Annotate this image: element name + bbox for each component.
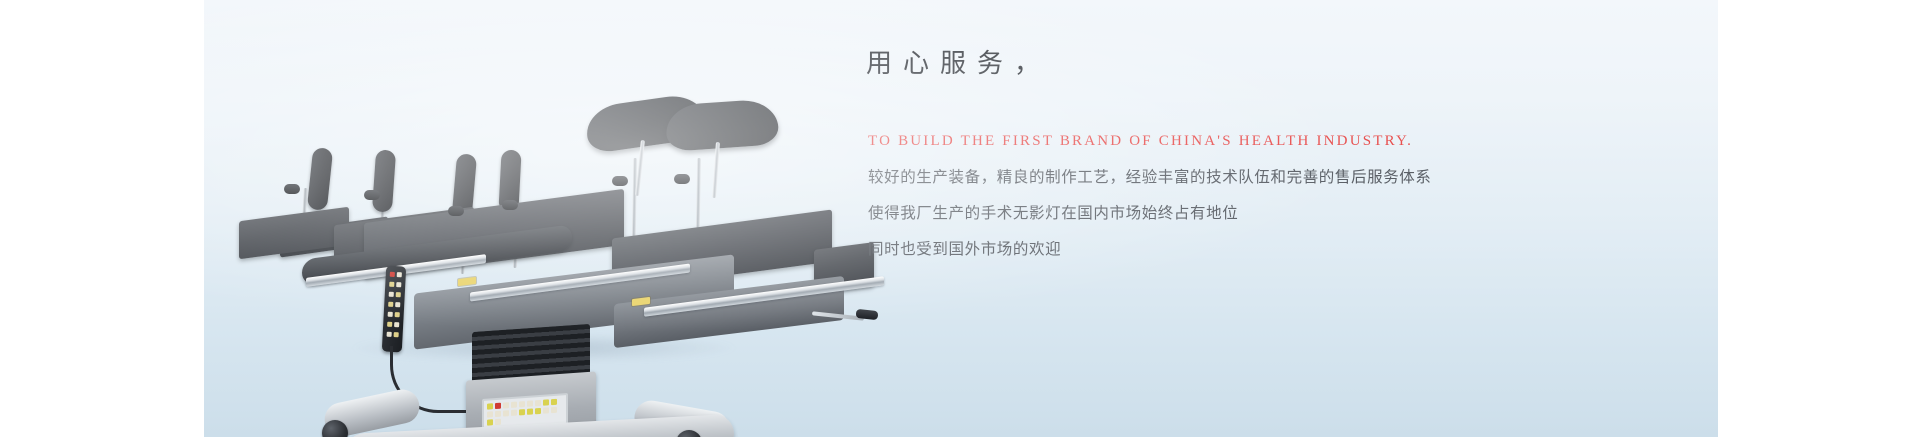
banner-description: 较好的生产装备，精良的制作工艺，经验丰富的技术队伍和完善的售后服务体系 使得我厂… [868, 160, 1432, 268]
banner-panel: 用心服务， TO BUILD THE FIRST BRAND OF CHINA'… [204, 0, 1718, 437]
clamp-knob [674, 174, 690, 184]
description-line: 使得我厂生产的手术无影灯在国内市场始终占有地位 [868, 196, 1432, 232]
banner-headline: 用心服务， [866, 46, 1051, 80]
caution-label [458, 277, 476, 286]
operating-table-photo [214, 28, 914, 408]
promo-banner: 用心服务， TO BUILD THE FIRST BRAND OF CHINA'… [0, 0, 1920, 437]
table-head-section [239, 207, 349, 259]
side-support-pad [372, 149, 396, 212]
description-line: 较好的生产装备，精良的制作工艺，经验丰富的技术队伍和完善的售后服务体系 [868, 160, 1432, 196]
banner-copy: 用心服务， TO BUILD THE FIRST BRAND OF CHINA'… [866, 0, 1686, 437]
side-support-pad [307, 147, 333, 211]
clamp-knob [364, 190, 380, 200]
clamp-knob [284, 184, 300, 194]
banner-tagline: TO BUILD THE FIRST BRAND OF CHINA'S HEAL… [868, 131, 1413, 151]
clamp-knob [612, 176, 628, 186]
description-line: 同时也受到国外市场的欢迎 [868, 232, 1432, 268]
clamp-knob [502, 200, 518, 210]
holder-arm [712, 142, 720, 198]
clamp-knob [448, 206, 464, 216]
